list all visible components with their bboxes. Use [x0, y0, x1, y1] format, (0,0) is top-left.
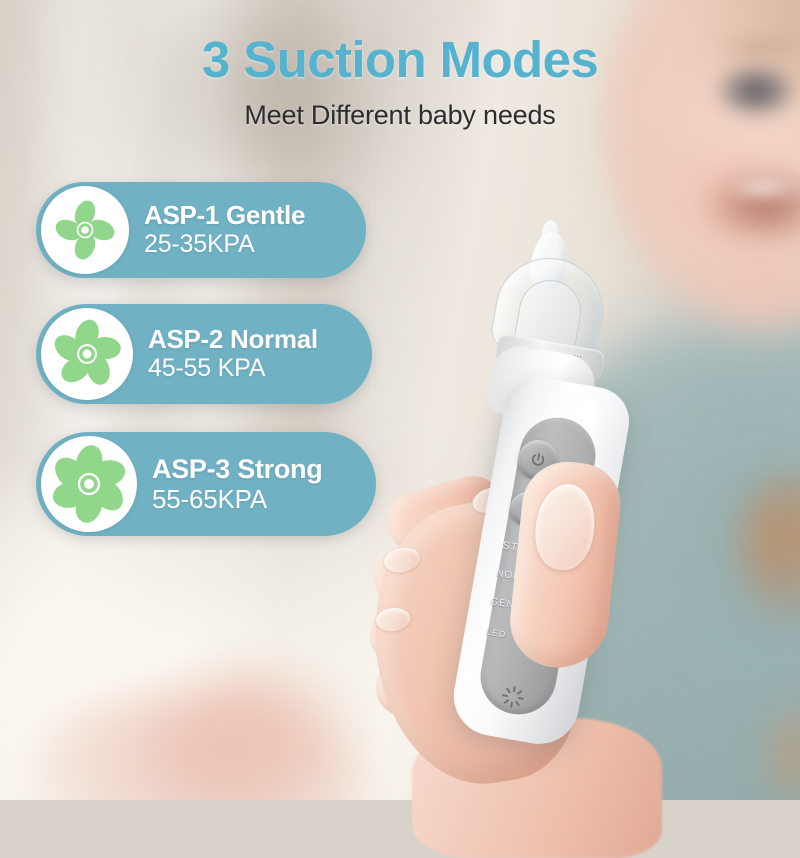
- fan-icon-circle-1: [41, 186, 129, 274]
- fan-5-blade-icon: [50, 317, 124, 391]
- mode-text-2: ASP-2 Normal 45-55 KPA: [148, 325, 318, 384]
- speaker-grille: [498, 682, 528, 712]
- mode-text-1: ASP-1 Gentle 25-35KPA: [144, 201, 305, 260]
- mode-title-2: ASP-2 Normal: [148, 325, 318, 354]
- fan-6-blade-icon: [49, 444, 129, 524]
- page-title: 3 Suction Modes: [0, 30, 800, 89]
- suction-mode-card-1[interactable]: ASP-1 Gentle 25-35KPA: [36, 182, 366, 278]
- power-icon: [528, 450, 549, 471]
- fan-icon-circle-2: [41, 308, 133, 400]
- speaker-grille-icon: [498, 682, 528, 712]
- fan-4-blade-icon: [51, 196, 119, 264]
- background-shadow-smudge: [120, 0, 420, 190]
- suction-mode-card-2[interactable]: ASP-2 Normal 45-55 KPA: [36, 304, 372, 404]
- suction-mode-card-3[interactable]: ASP-3 Strong 55-65KPA: [36, 432, 376, 536]
- page-subtitle: Meet Different baby needs: [0, 100, 800, 131]
- mode-title-3: ASP-3 Strong: [152, 454, 322, 484]
- fan-icon-circle-3: [41, 436, 137, 532]
- baby-nasal-aspirator: LOCK ◀▶ OPEN STRONG NORMAL GENTLE LED: [404, 246, 664, 746]
- mode-text-3: ASP-3 Strong 55-65KPA: [152, 454, 322, 515]
- mode-pressure-3: 55-65KPA: [152, 484, 322, 515]
- mode-title-1: ASP-1 Gentle: [144, 201, 305, 230]
- mode-pressure-1: 25-35KPA: [144, 230, 305, 260]
- music-note-icon: [518, 500, 535, 517]
- baby-chin-blur: [672, 238, 800, 358]
- mode-pressure-2: 45-55 KPA: [148, 354, 318, 384]
- baby-teeth-blur: [726, 176, 800, 200]
- suction-modes-list: ASP-1 Gentle 25-35KPA ASP-2 Normal 45-55: [36, 182, 386, 562]
